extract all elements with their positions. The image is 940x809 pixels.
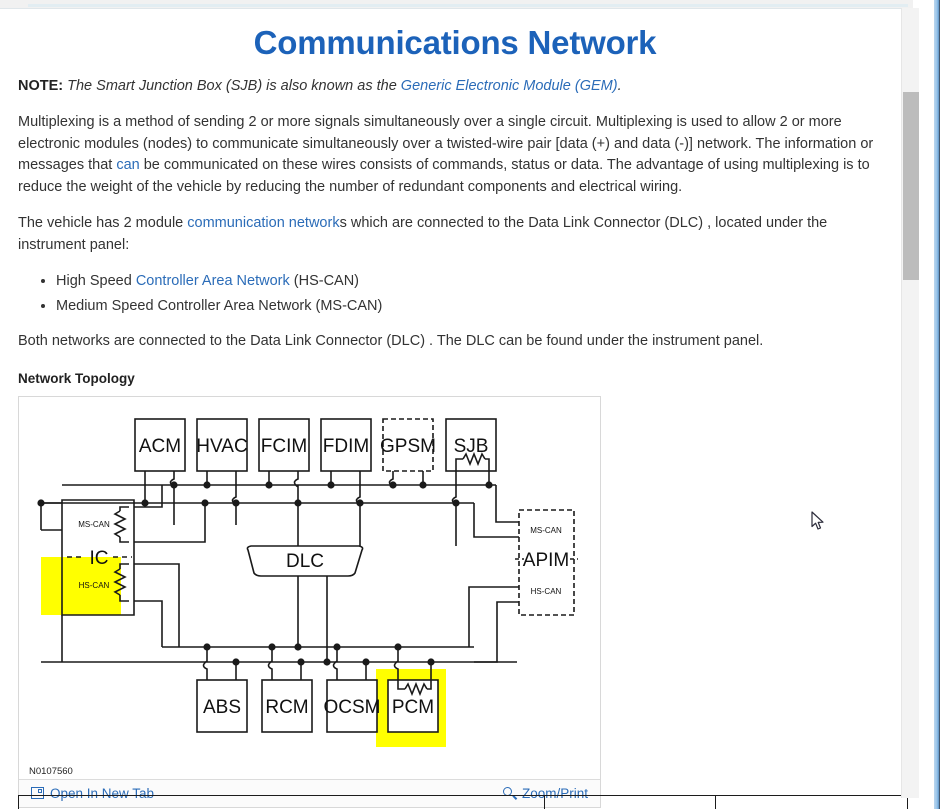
can-link[interactable]: can (116, 157, 139, 173)
diagram-labels: ACM HVAC FCIM FDIM GPSM SJB ABS RCM OCSM… (78, 436, 569, 718)
topology-diagram: ACM HVAC FCIM FDIM GPSM SJB ABS RCM OCSM… (19, 397, 600, 772)
module-label-ic: IC (90, 548, 109, 569)
drop-fcim-b (295, 471, 299, 546)
network-topology-heading: Network Topology (18, 371, 892, 386)
module-label-sjb: SJB (454, 436, 489, 457)
spacer-c (474, 633, 517, 662)
connector-label-dlc: DLC (286, 551, 324, 572)
vertical-scrollbar-thumb[interactable] (903, 92, 919, 280)
apim-hs-lower-1 (469, 587, 519, 647)
drop-hvac-b (233, 471, 237, 525)
drop-fdim-b (357, 471, 361, 546)
module-label-hvac: HVAC (196, 436, 247, 457)
module-label-rcm: RCM (265, 697, 308, 718)
ic-ms-can-label: MS-CAN (78, 520, 110, 529)
note-text-after: . (618, 78, 622, 94)
apim-ms-upper (496, 485, 519, 522)
figure-id-code: N0107560 (29, 766, 73, 777)
apim-hs-can-label: HS-CAN (531, 587, 562, 596)
ic-hs-resistor-lead-bottom (120, 595, 129, 601)
module-label-abs: ABS (203, 697, 241, 718)
list-item-prefix: Medium Speed Controller Area Network (MS… (56, 298, 382, 314)
networks-paragraph: The vehicle has 2 module communication n… (18, 213, 892, 257)
spacer-a (41, 503, 62, 530)
module-label-ocsm: OCSM (324, 697, 381, 718)
ic-hs-resistor-lead-top (120, 564, 129, 569)
apim-hs-lower-2 (474, 602, 519, 662)
note-text-before: The Smart Junction Box (SJB) is also kno… (67, 78, 397, 94)
network-topology-figure: ACM HVAC FCIM FDIM GPSM SJB ABS RCM OCSM… (18, 396, 601, 808)
ic-ms-to-lower-bus (134, 503, 205, 542)
top-band-inner-line (28, 4, 908, 7)
module-label-apim: APIM (523, 550, 569, 571)
gem-link[interactable]: Generic Electronic Module (GEM) (401, 78, 618, 94)
window-right-edge (934, 0, 940, 809)
networks-text-part1: The vehicle has 2 module (18, 215, 187, 231)
drop-acm-b (171, 471, 175, 525)
multiplexing-text-part2: be communicated on these wires consists … (18, 157, 870, 195)
list-item-prefix: High Speed (56, 273, 136, 289)
page-title: Communications Network (18, 24, 892, 62)
ic-hs-to-bottom-upper (134, 564, 179, 647)
module-label-fdim: FDIM (323, 436, 369, 457)
riser-abs-a (204, 647, 208, 680)
document-content: Communications Network NOTE: The Smart J… (0, 8, 906, 808)
page-root: Communications Network NOTE: The Smart J… (0, 0, 940, 809)
communication-networks-link[interactable]: communication network (187, 215, 339, 231)
table-column-2 (544, 796, 715, 809)
ic-ms-resistor-zigzag (115, 511, 125, 537)
apim-ms-can-label: MS-CAN (530, 526, 562, 535)
ic-ms-resistor-lead-top (120, 507, 129, 511)
ic-hs-can-label: HS-CAN (79, 581, 110, 590)
note-label: NOTE: (18, 78, 63, 94)
module-label-pcm: PCM (392, 697, 434, 718)
ic-ms-resistor-lead-bottom (120, 537, 129, 542)
bottom-partial-table (18, 795, 908, 809)
riser-rcm-a (269, 647, 273, 680)
topology-svg: ACM HVAC FCIM FDIM GPSM SJB ABS RCM OCSM… (19, 397, 600, 772)
module-label-fcim: FCIM (261, 436, 307, 457)
note-paragraph: NOTE: The Smart Junction Box (SJB) is al… (18, 76, 892, 98)
controller-area-network-link[interactable]: Controller Area Network (136, 273, 290, 289)
ic-hs-to-bottom-upper2 (134, 601, 162, 647)
multiplexing-paragraph: Multiplexing is a method of sending 2 or… (18, 112, 892, 199)
module-label-gpsm: GPSM (380, 436, 436, 457)
table-column-1 (19, 796, 544, 809)
module-label-acm: ACM (139, 436, 181, 457)
table-column-3 (715, 796, 907, 809)
list-item: High Speed Controller Area Network (HS-C… (56, 270, 892, 292)
both-networks-paragraph: Both networks are connected to the Data … (18, 331, 892, 353)
list-item: Medium Speed Controller Area Network (MS… (56, 295, 892, 317)
list-item-suffix: (HS-CAN) (290, 273, 359, 289)
riser-ocsm-a (334, 647, 338, 680)
network-types-list: High Speed Controller Area Network (HS-C… (18, 270, 892, 317)
